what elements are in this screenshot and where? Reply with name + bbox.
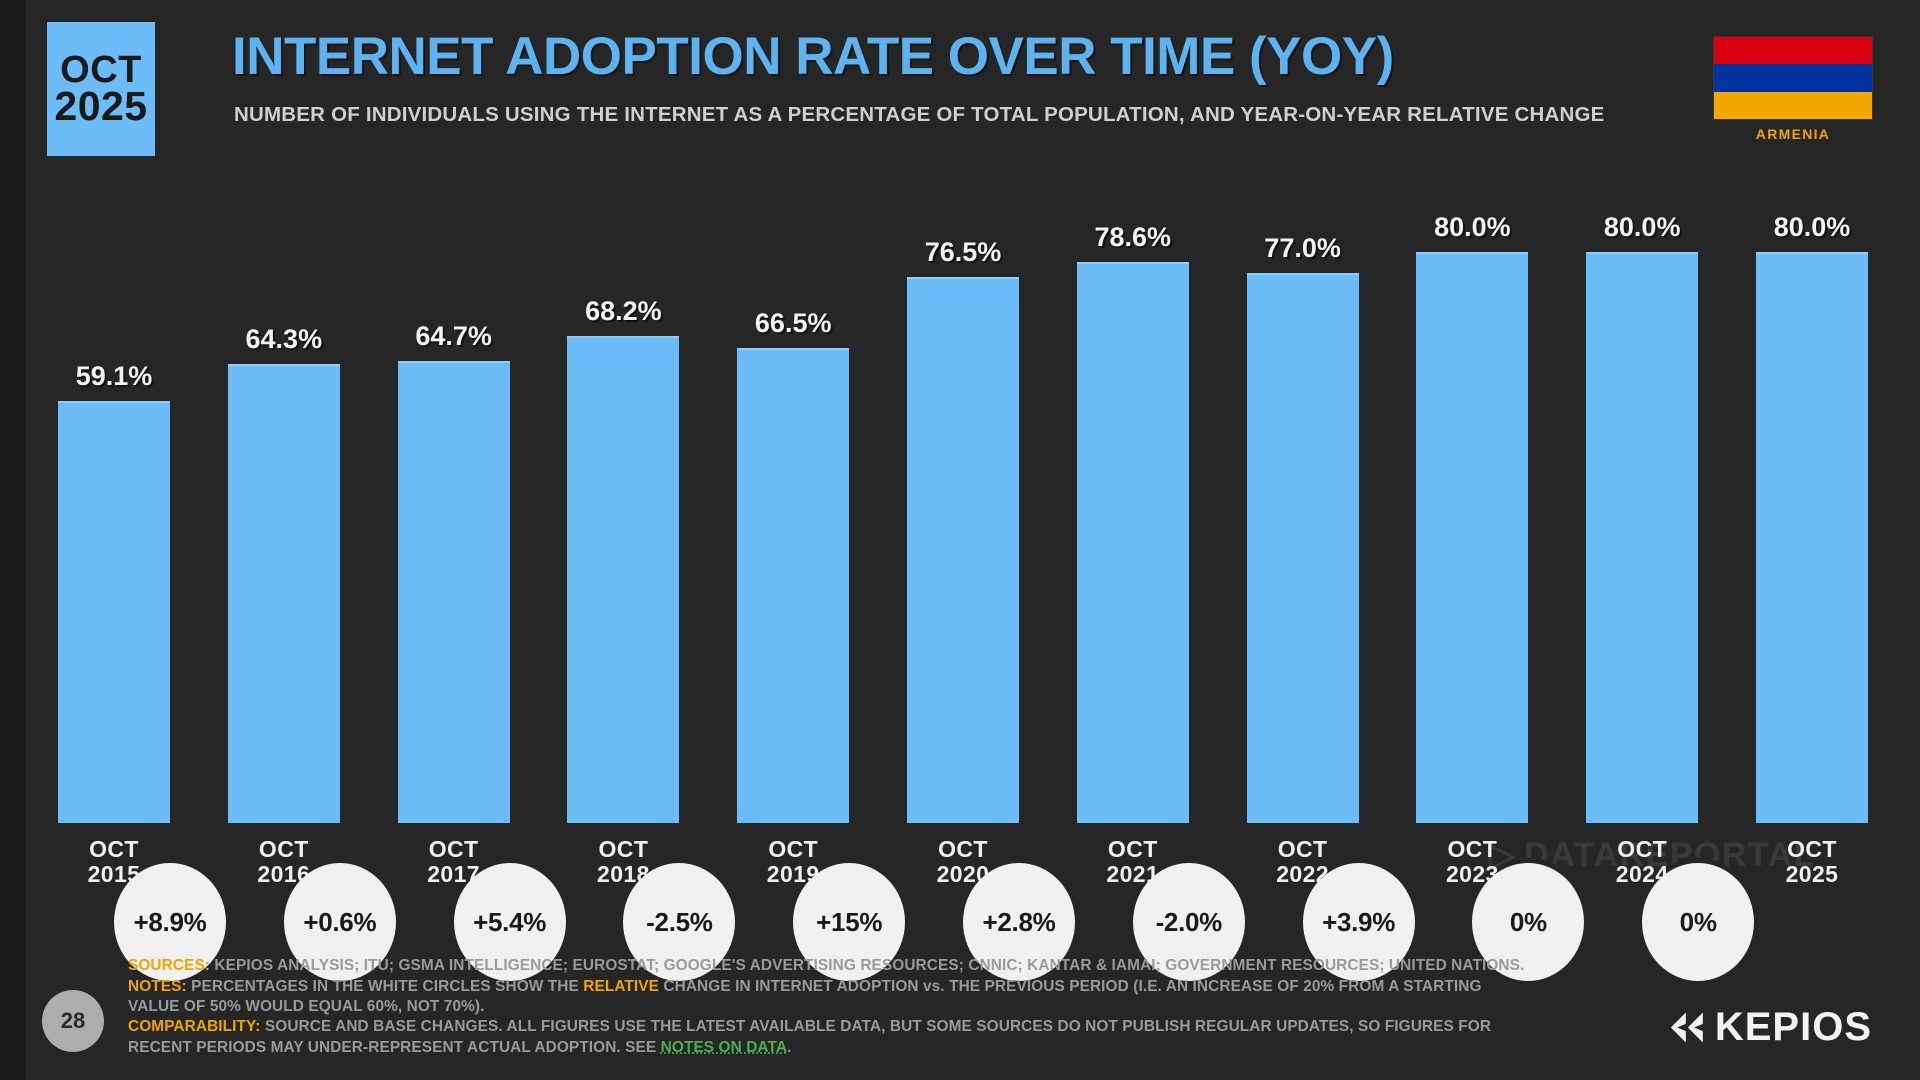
date-badge-year: 2025: [54, 88, 147, 126]
flag-band-red: [1714, 37, 1872, 64]
x-axis-tick: OCT2025: [1756, 823, 1868, 915]
x-axis-tick-month: OCT: [567, 837, 679, 862]
bar-value-label: 80.0%: [1434, 212, 1511, 243]
bar[interactable]: [1416, 252, 1528, 823]
bar-column[interactable]: 78.6%: [1077, 175, 1189, 823]
x-axis-tick: OCT2022: [1247, 823, 1359, 915]
bar[interactable]: [1586, 252, 1698, 823]
bar-column[interactable]: 68.2%: [567, 175, 679, 823]
x-axis-tick-month: OCT: [1077, 837, 1189, 862]
x-axis-tick-year: 2017: [398, 862, 510, 887]
bar-column[interactable]: 80.0%: [1416, 175, 1528, 823]
bar[interactable]: [228, 364, 340, 823]
bar-chart: ▷ DATAREPORTAL 59.1%64.3%64.7%68.2%66.5%…: [58, 175, 1868, 915]
x-axis-tick-year: 2015: [58, 862, 170, 887]
x-axis-tick: OCT2021: [1077, 823, 1189, 915]
country-name: ARMENIA: [1713, 126, 1873, 142]
x-axis-tick: OCT2019: [737, 823, 849, 915]
footnote-trailing-period: .: [787, 1039, 791, 1056]
bar-column[interactable]: 80.0%: [1756, 175, 1868, 823]
page-subtitle: NUMBER OF INDIVIDUALS USING THE INTERNET…: [234, 103, 1605, 127]
x-axis-tick: OCT2020: [907, 823, 1019, 915]
sources-text: KEPIOS ANALYSIS; ITU; GSMA INTELLIGENCE;…: [210, 957, 1524, 974]
notes-text-1: PERCENTAGES IN THE WHITE CIRCLES SHOW TH…: [187, 978, 584, 995]
x-axis-tick: OCT2016: [228, 823, 340, 915]
comparability-text: SOURCE AND BASE CHANGES. ALL FIGURES USE…: [128, 1018, 1491, 1055]
armenia-flag-icon: [1713, 36, 1873, 120]
x-axis-tick-year: 2019: [737, 862, 849, 887]
bar[interactable]: [1756, 252, 1868, 823]
x-axis-tick-month: OCT: [1247, 837, 1359, 862]
x-axis-tick-month: OCT: [398, 837, 510, 862]
x-axis-tick: OCT2023: [1416, 823, 1528, 915]
x-axis-labels: OCT2015OCT2016OCT2017OCT2018OCT2019OCT20…: [58, 823, 1868, 915]
x-axis-tick-year: 2016: [228, 862, 340, 887]
x-axis-tick-month: OCT: [1416, 837, 1528, 862]
x-axis-tick: OCT2015: [58, 823, 170, 915]
bar-value-label: 64.7%: [415, 321, 492, 352]
page-title: INTERNET ADOPTION RATE OVER TIME (YOY): [232, 26, 1394, 87]
x-axis-tick-year: 2024: [1586, 862, 1698, 887]
x-axis-tick-year: 2025: [1756, 862, 1868, 887]
x-axis-tick: OCT2018: [567, 823, 679, 915]
bar[interactable]: [737, 348, 849, 823]
bar-series: 59.1%64.3%64.7%68.2%66.5%76.5%78.6%77.0%…: [58, 175, 1868, 823]
x-axis-tick-year: 2020: [907, 862, 1019, 887]
bar-value-label: 80.0%: [1774, 212, 1851, 243]
page-number-badge: 28: [42, 990, 104, 1052]
x-axis-tick-month: OCT: [907, 837, 1019, 862]
flag-band-blue: [1714, 64, 1872, 91]
comparability-label: COMPARABILITY:: [128, 1018, 261, 1035]
x-axis-tick-year: 2018: [567, 862, 679, 887]
bar-value-label: 68.2%: [585, 296, 662, 327]
x-axis-tick-year: 2021: [1077, 862, 1189, 887]
bar-column[interactable]: 80.0%: [1586, 175, 1698, 823]
bar-column[interactable]: 76.5%: [907, 175, 1019, 823]
bar-value-label: 76.5%: [925, 237, 1002, 268]
bar[interactable]: [1247, 273, 1359, 823]
bar[interactable]: [1077, 262, 1189, 823]
notes-label: NOTES:: [128, 978, 187, 995]
x-axis-tick-year: 2022: [1247, 862, 1359, 887]
x-axis-tick-month: OCT: [1586, 837, 1698, 862]
notes-on-data-link[interactable]: NOTES ON DATA: [661, 1039, 787, 1056]
bar-column[interactable]: 66.5%: [737, 175, 849, 823]
x-axis-tick-month: OCT: [228, 837, 340, 862]
kepios-logo: KEPIOS: [1671, 1005, 1872, 1050]
x-axis-tick-month: OCT: [1756, 837, 1868, 862]
bar-value-label: 80.0%: [1604, 212, 1681, 243]
bar[interactable]: [398, 361, 510, 823]
kepios-wordmark: KEPIOS: [1715, 1005, 1872, 1050]
bar-column[interactable]: 64.3%: [228, 175, 340, 823]
sources-label: SOURCES:: [128, 957, 210, 974]
bar-column[interactable]: 64.7%: [398, 175, 510, 823]
kepios-mark-icon: [1671, 1013, 1703, 1043]
x-axis-tick: OCT2024: [1586, 823, 1698, 915]
x-axis-tick-year: 2023: [1416, 862, 1528, 887]
x-axis-tick-month: OCT: [737, 837, 849, 862]
country-flag-block: ARMENIA: [1713, 36, 1873, 142]
bar[interactable]: [58, 401, 170, 823]
flag-band-orange: [1714, 92, 1872, 119]
bar-value-label: 64.3%: [246, 324, 323, 355]
bar[interactable]: [907, 277, 1019, 823]
footnotes: SOURCES: KEPIOS ANALYSIS; ITU; GSMA INTE…: [128, 956, 1528, 1058]
bar-value-label: 77.0%: [1264, 233, 1341, 264]
bar-value-label: 78.6%: [1095, 222, 1172, 253]
slide-root: OCT 2025 INTERNET ADOPTION RATE OVER TIM…: [0, 0, 1920, 1080]
bar-value-label: 66.5%: [755, 308, 832, 339]
bar-column[interactable]: 59.1%: [58, 175, 170, 823]
x-axis-tick: OCT2017: [398, 823, 510, 915]
date-badge: OCT 2025: [47, 22, 155, 156]
x-axis-tick-month: OCT: [58, 837, 170, 862]
bar-column[interactable]: 77.0%: [1247, 175, 1359, 823]
left-edge-rail: [0, 0, 26, 1080]
notes-relative-emphasis: RELATIVE: [583, 978, 659, 995]
bar-value-label: 59.1%: [76, 361, 153, 392]
bar[interactable]: [567, 336, 679, 823]
